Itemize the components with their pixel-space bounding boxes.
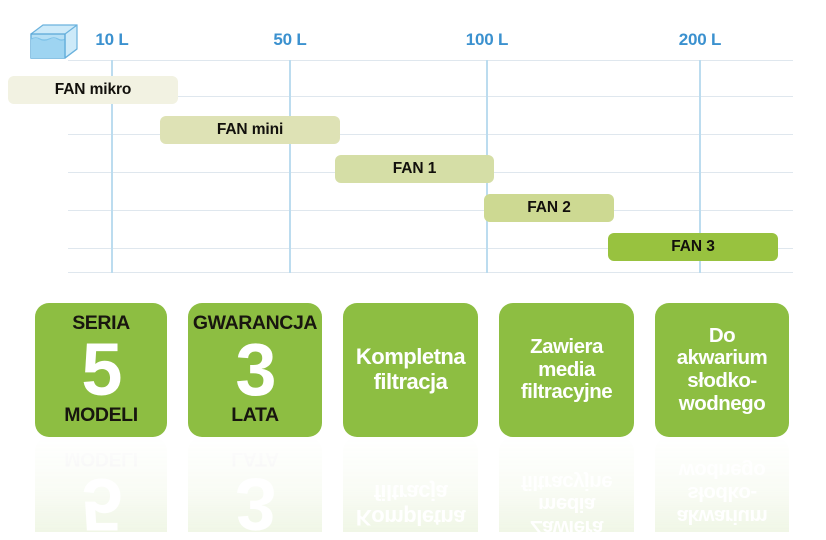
badge-kompletna-filtracja[interactable]: Kompletnafiltracja (343, 303, 478, 437)
range-bar-label: FAN 1 (393, 160, 436, 178)
badge-line: media (538, 493, 595, 516)
axis-tick-label-50l: 50 L (273, 30, 306, 50)
badge-line: słodko- (687, 481, 756, 504)
badge-kompletna-filtracja: Kompletnafiltracja (343, 437, 478, 532)
badge-line: filtracyjne (521, 381, 612, 404)
badge-gwarancja-3-lata: GWARANCJA3LATA (188, 437, 322, 532)
badge-do-akwarium-slodkowodnego: Doakwariumsłodko-wodnego (655, 437, 789, 532)
range-bar-fan-mini[interactable]: FAN mini (160, 116, 340, 144)
range-bar-fan-3[interactable]: FAN 3 (608, 233, 778, 261)
badge-line: słodko- (687, 370, 756, 393)
infographic-canvas: 10 L 50 L 100 L 200 L FAN mikroFAN miniF… (0, 0, 826, 540)
badge-line: 5 (81, 336, 120, 404)
badge-line: wodnego (679, 459, 765, 482)
badge-line: media (538, 359, 595, 382)
badge-line: MODELI (64, 406, 137, 426)
axis-tick-label-200l: 200 L (679, 30, 721, 50)
range-bar-label: FAN mini (217, 121, 283, 139)
aquarium-tank-icon (28, 22, 80, 64)
badge-seria-5-modeli[interactable]: SERIA5MODELI (35, 303, 167, 437)
badge-line: LATA (231, 448, 279, 468)
badge-reflection-mirror: SERIA5MODELIGWARANCJA3LATAKompletnafiltr… (0, 437, 826, 532)
capacity-range-chart: FAN mikroFAN miniFAN 1FAN 2FAN 3 (0, 60, 826, 275)
badge-line: Kompletna (356, 504, 465, 529)
badge-zawiera-media-filtracyjne[interactable]: Zawieramediafiltracyjne (499, 303, 634, 437)
range-bar-label: FAN 3 (671, 238, 714, 256)
range-bar-label: FAN 2 (527, 199, 570, 217)
axis-tick-label-10l: 10 L (95, 30, 128, 50)
gridline-v-50l (289, 60, 291, 273)
badge-line: Zawiera (530, 336, 603, 359)
badge-line: wodnego (679, 393, 765, 416)
badge-do-akwarium-slodkowodnego[interactable]: Doakwariumsłodko-wodnego (655, 303, 789, 437)
badge-line: filtracja (374, 370, 448, 395)
badge-line: Kompletna (356, 345, 465, 370)
range-bar-fan-2[interactable]: FAN 2 (484, 194, 614, 222)
badge-line: akwarium (677, 347, 768, 370)
range-bar-fan-mikro[interactable]: FAN mikro (8, 76, 178, 104)
gridline-h-0 (68, 60, 793, 61)
gridline-h-6 (68, 272, 793, 273)
badge-line: 3 (235, 336, 274, 404)
gridline-h-4 (68, 210, 793, 211)
badge-line: MODELI (64, 448, 137, 468)
badge-line: akwarium (677, 504, 768, 527)
badge-reflection: SERIA5MODELIGWARANCJA3LATAKompletnafiltr… (0, 437, 826, 532)
badge-line: LATA (231, 406, 279, 426)
range-bar-fan-1[interactable]: FAN 1 (335, 155, 494, 183)
axis-tick-label-100l: 100 L (466, 30, 508, 50)
badge-line: 3 (235, 470, 274, 532)
badge-line: 5 (81, 470, 120, 532)
badge-line: filtracja (374, 479, 448, 504)
badge-line: Zawiera (530, 515, 603, 532)
badge-seria-5-modeli: SERIA5MODELI (35, 437, 167, 532)
range-bar-label: FAN mikro (55, 81, 132, 99)
badge-zawiera-media-filtracyjne: Zawieramediafiltracyjne (499, 437, 634, 532)
feature-badge-row: SERIA5MODELIGWARANCJA3LATAKompletnafiltr… (0, 303, 826, 437)
badge-gwarancja-3-lata[interactable]: GWARANCJA3LATA (188, 303, 322, 437)
badge-line: filtracyjne (521, 470, 612, 493)
badge-line: Do (709, 325, 735, 348)
